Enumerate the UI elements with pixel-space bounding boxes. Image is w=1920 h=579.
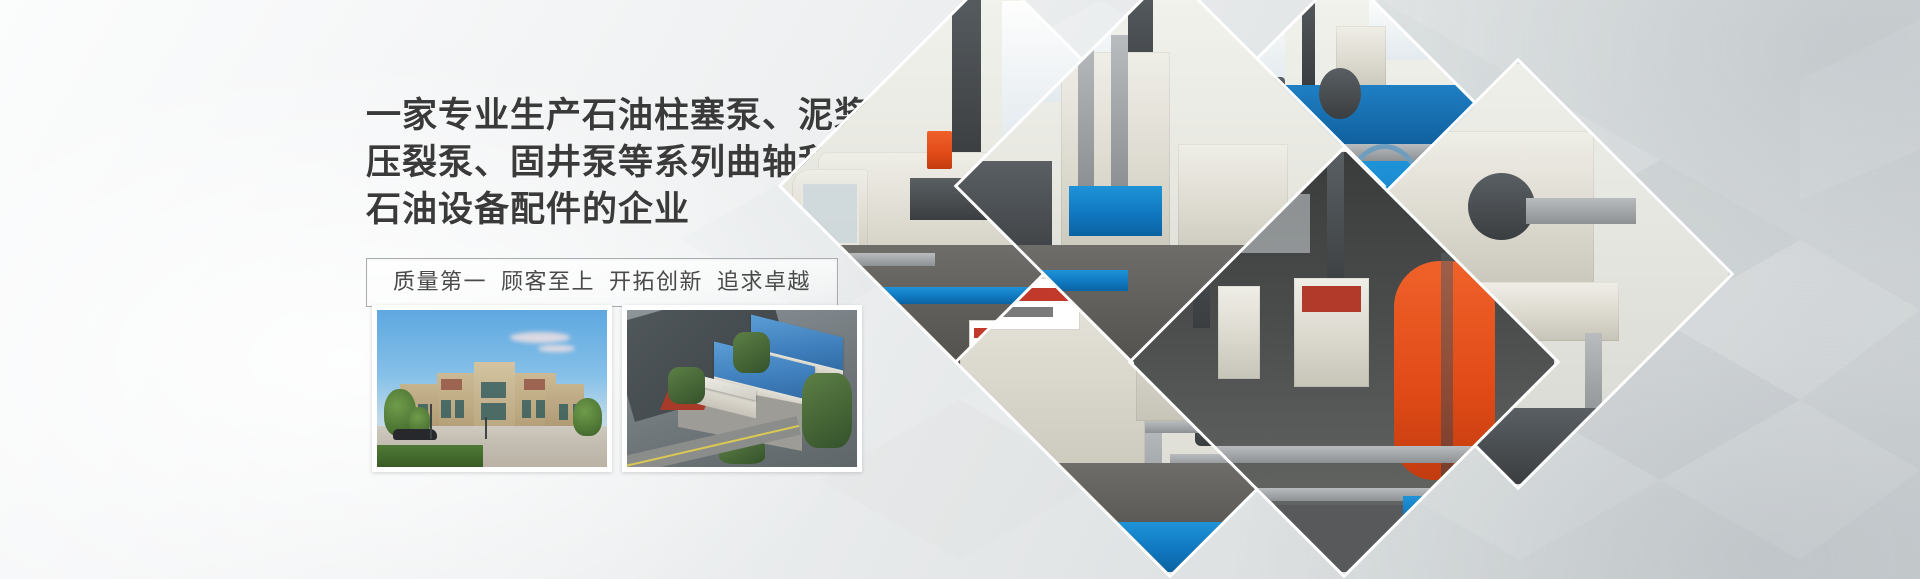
slogan-item-2: 顾客至上 [501, 269, 595, 294]
factory-aerial-photo [622, 305, 862, 472]
slogan-item-3: 开拓创新 [609, 269, 703, 294]
photo-strip [372, 305, 862, 472]
slogan-item-1: 质量第一 [393, 269, 487, 294]
slogan-text: 质量第一顾客至上开拓创新追求卓越 [393, 268, 811, 296]
slogan-badge: 质量第一顾客至上开拓创新追求卓越 [366, 258, 838, 307]
hero-banner: 一家专业生产石油柱塞泵、泥浆泵、 压裂泵、固井泵等系列曲轴和其他 石油设备配件的… [0, 0, 1920, 579]
slogan-item-4: 追求卓越 [717, 269, 811, 294]
office-building-photo [372, 305, 612, 472]
headline-line-1: 一家专业生产石油柱塞泵、泥浆泵、 [366, 92, 886, 139]
diamond-photo-collage [836, 24, 1536, 544]
